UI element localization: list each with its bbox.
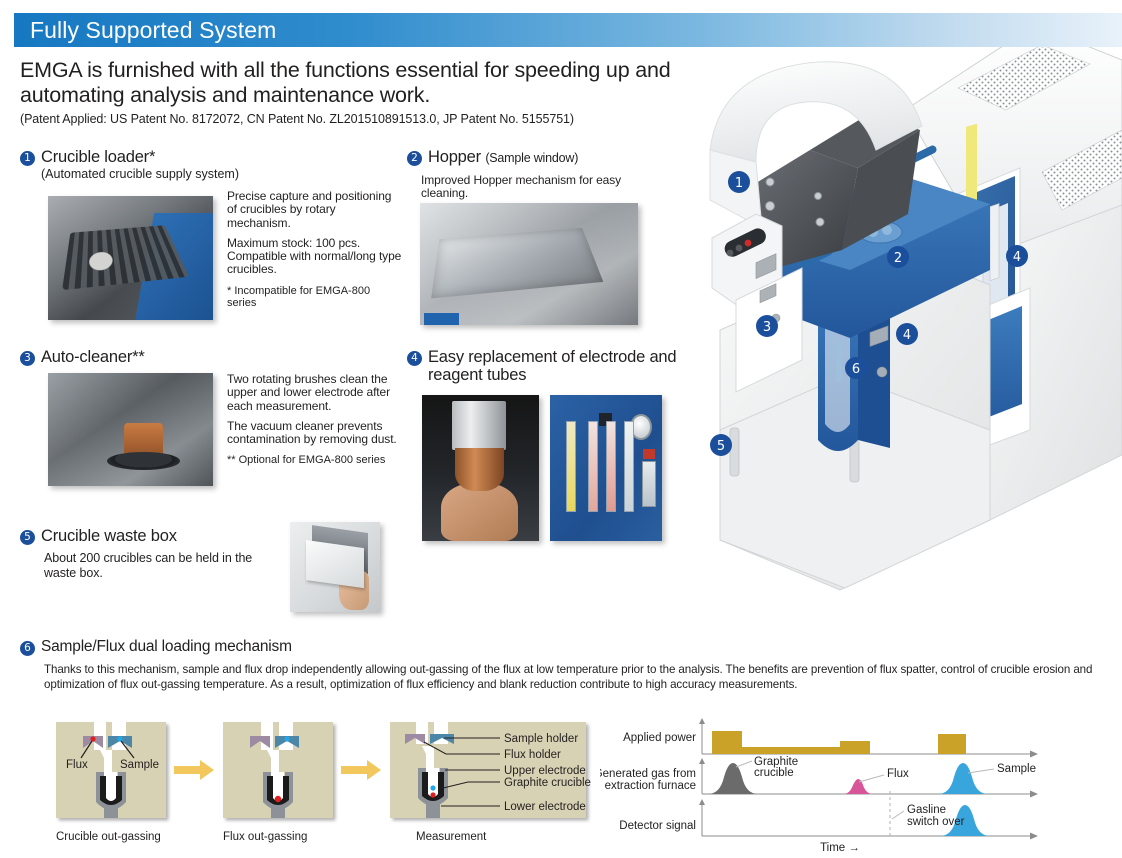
feature-1-subtitle: (Automated crucible supply system) (41, 167, 400, 181)
hand-shape (441, 483, 518, 541)
stage2-caption: Flux out-gassing (223, 831, 307, 843)
feature-5-title: Crucible waste box (41, 527, 177, 545)
photo-auto-cleaner (48, 373, 213, 486)
red-label (643, 449, 655, 459)
feature-dual-loading: 6 Sample/Flux dual loading mechanism Tha… (20, 638, 1105, 692)
stage-arrow-2 (341, 760, 381, 780)
stage1-label-sample: Sample (120, 759, 159, 771)
chart-row-label-power: Applied power (623, 732, 696, 744)
svg-text:4: 4 (1013, 250, 1021, 265)
reagent-tube-2 (588, 421, 598, 512)
photo-crucible-loader (48, 196, 213, 320)
photo-waste-box (290, 522, 380, 612)
feature-2-body-1: Improved Hopper mechanism for easy clean… (421, 174, 666, 201)
svg-text:5: 5 (717, 439, 725, 454)
chart-annotation-flux: Flux (887, 768, 909, 780)
chart-annotation-sample: Sample (997, 763, 1036, 775)
svg-text:4: 4 (903, 328, 911, 343)
feature-3-body-1: Two rotating brushes clean the upper and… (227, 373, 403, 413)
chart-row-applied-power (699, 718, 1038, 758)
stage1-caption: Crucible out-gassing (56, 831, 161, 843)
feature-5-body-1: About 200 crucibles can be held in the w… (44, 551, 284, 580)
feature-3-body-2: The vacuum cleaner prevents contaminatio… (227, 420, 403, 447)
feature-3-note: ** Optional for EMGA-800 series (227, 454, 403, 467)
page-title: Fully Supported System (14, 19, 276, 42)
feature-4-title: Easy replacement of electrode and reagen… (428, 348, 677, 384)
legend-lower-electrode: Lower electrode (504, 801, 586, 813)
peak-sample-gas (938, 763, 988, 794)
stage1-label-flux: Flux (66, 759, 88, 771)
feature-3-heading: 3 Auto-cleaner** (20, 348, 400, 366)
legend-upper-electrode: Upper electrode (504, 765, 586, 777)
peak-flux (843, 779, 873, 794)
chart-xlabel: Time → (820, 842, 860, 854)
svg-text:2: 2 (894, 251, 902, 266)
peak-graphite-crucible (708, 763, 758, 794)
feature-1-heading: 1 Crucible loader* (20, 148, 400, 166)
legend-sample-holder: Sample holder (504, 733, 578, 745)
feature-5-heading: 5 Crucible waste box (20, 527, 310, 545)
legend-flux-holder: Flux holder (504, 749, 561, 761)
page-root: 1 2 3 4 4 5 6 Fully Supported System EMG… (0, 0, 1122, 858)
reagent-tube-3 (606, 421, 616, 512)
chart-annotation-graphite-2: crucible (754, 767, 794, 779)
reagent-tube-1 (566, 421, 576, 512)
feature-6-heading: 6 Sample/Flux dual loading mechanism (20, 638, 1105, 656)
chart-row-label-gas-2: extraction furnace (605, 780, 696, 792)
page-header: Fully Supported System (14, 13, 1122, 47)
feature-3-text: Two rotating brushes clean the upper and… (227, 373, 403, 467)
feature-crucible-loader: 1 Crucible loader* (Automated crucible s… (20, 148, 400, 181)
feature-3-title: Auto-cleaner** (41, 348, 145, 366)
stage-1-diagram: Flux Sample Crucible out-gassing (56, 722, 166, 843)
badge-6: 6 (20, 641, 35, 656)
feature-2-title-main: Hopper (428, 148, 481, 166)
machine-illustration: 1 2 3 4 4 5 6 (690, 0, 1122, 640)
stage-2-diagram: Flux out-gassing (223, 722, 333, 843)
badge-3: 3 (20, 351, 35, 366)
feature-2-title: Hopper (Sample window) (428, 148, 578, 167)
badge-1: 1 (20, 151, 35, 166)
chart-row-label-detector: Detector signal (619, 820, 696, 832)
feature-1-body-2: Maximum stock: 100 pcs. Compatible with … (227, 237, 402, 277)
legend-graphite-crucible: Graphite crucible (504, 777, 591, 789)
svg-text:1: 1 (735, 176, 743, 191)
patent-note: (Patent Applied: US Patent No. 8172072, … (20, 112, 690, 126)
chart-annotation-gasline-1: Gasline (907, 804, 946, 816)
chart-row-detector-signal: Gasline switch over Time → (699, 791, 1038, 854)
hand-shape-2 (339, 571, 370, 611)
stage-diagrams: Flux Sample Crucible out-gassing Flux ou… (48, 714, 593, 854)
feature-waste-box: 5 Crucible waste box About 200 crucibles… (20, 527, 310, 580)
svg-text:6: 6 (852, 362, 860, 377)
badge-2: 2 (407, 151, 422, 166)
reagent-tube-4 (624, 421, 634, 512)
feature-4-heading: 4 Easy replacement of electrode and reag… (407, 348, 677, 384)
photo-electrode (422, 395, 539, 541)
intro-block: EMGA is furnished with all the functions… (20, 58, 690, 126)
photo-hopper (420, 203, 638, 325)
badge-4: 4 (407, 351, 422, 366)
flow-meter (642, 461, 657, 508)
feature-hopper: 2 Hopper (Sample window) Improved Hopper… (407, 148, 687, 201)
stage-3-diagram: Sample holder Flux holder Upper electrod… (390, 722, 591, 843)
feature-6-body-1: Thanks to this mechanism, sample and flu… (44, 662, 1105, 692)
stage3-caption: Measurement (416, 831, 487, 843)
feature-1-text: Precise capture and positioning of cruci… (227, 190, 402, 310)
feature-1-body-1: Precise capture and positioning of cruci… (227, 190, 402, 230)
chart-row-label-gas-1: Generated gas from (600, 768, 696, 780)
feature-1-note: * Incompatible for EMGA-800 series (227, 285, 402, 310)
badge-5: 5 (20, 530, 35, 545)
photo-reagent-tubes (550, 395, 662, 541)
chart-row-generated-gas: Graphite crucible Flux Sample (699, 756, 1038, 798)
feature-2-title-sub: (Sample window) (485, 151, 578, 165)
timing-chart: Applied power Generated gas from extract… (600, 715, 1120, 855)
intro-lead-text: EMGA is furnished with all the functions… (20, 58, 690, 107)
feature-electrode-replacement: 4 Easy replacement of electrode and reag… (407, 348, 677, 384)
feature-1-title: Crucible loader* (41, 148, 155, 166)
feature-6-title: Sample/Flux dual loading mechanism (41, 638, 292, 656)
chart-annotation-gasline-2: switch over (907, 816, 965, 828)
feature-auto-cleaner: 3 Auto-cleaner** (20, 348, 400, 366)
stage-arrow-1 (174, 760, 214, 780)
feature-2-heading: 2 Hopper (Sample window) (407, 148, 687, 167)
svg-text:3: 3 (763, 320, 771, 335)
